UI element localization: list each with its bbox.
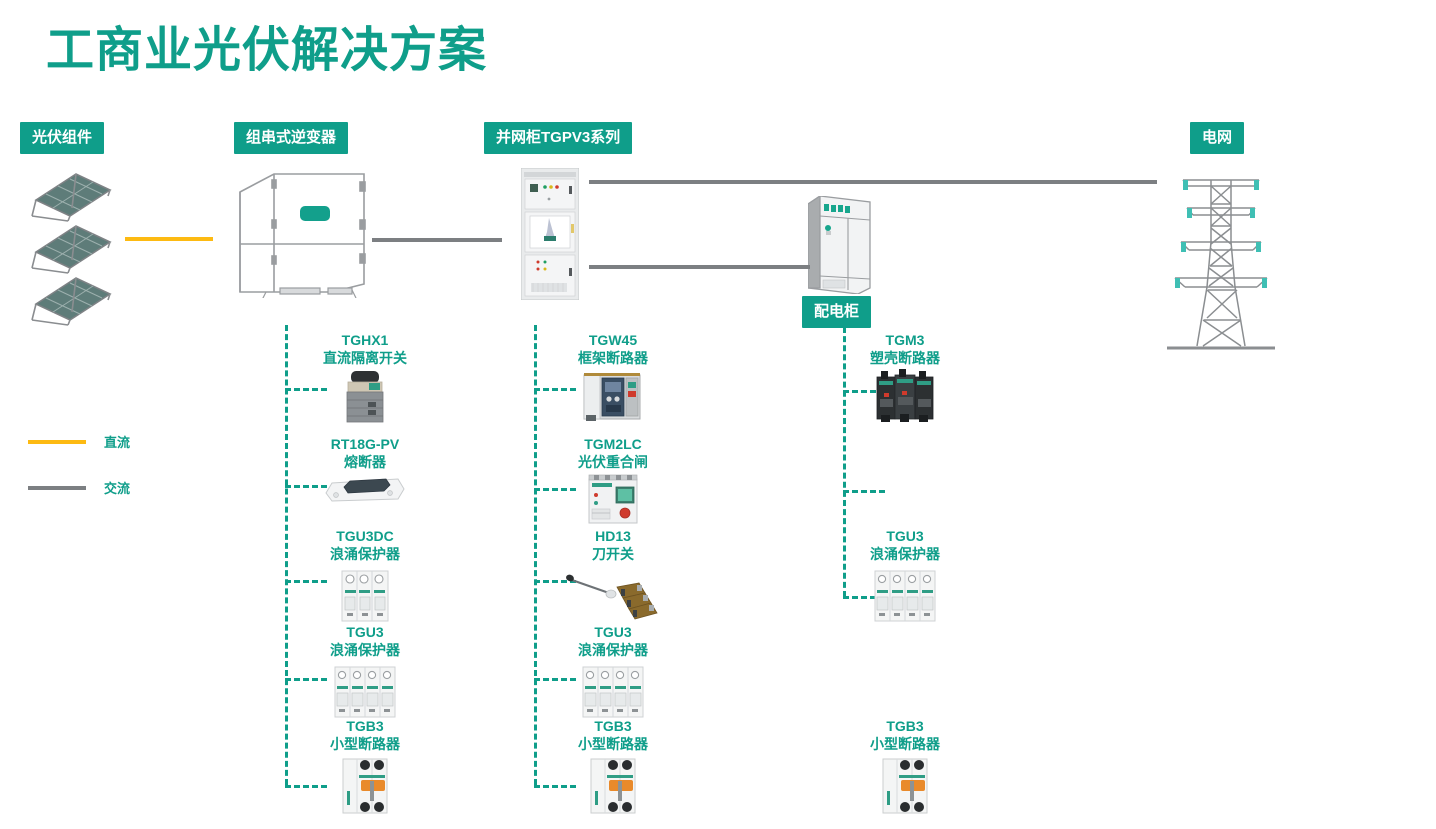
product-desc: 小型断路器	[528, 735, 698, 753]
spd-3p-icon	[336, 565, 394, 625]
product-desc: 浪涌保护器	[820, 545, 990, 563]
product-code: TGB3	[528, 718, 698, 735]
ac-line-grid-cabinet-to-distribution	[589, 265, 810, 269]
section-chip-string-inverter: 组串式逆变器	[234, 122, 348, 154]
product-code: TGM3	[820, 332, 990, 349]
product-code: HD13	[528, 528, 698, 545]
product-code: RT18G-PV	[280, 436, 450, 453]
section-chip-pv-modules: 光伏组件	[20, 122, 104, 154]
product-item-tgb3: TGB3 小型断路器	[280, 718, 450, 817]
product-code: TGU3	[820, 528, 990, 545]
product-desc: 熔断器	[280, 453, 450, 471]
product-item-hd13: HD13 刀开关	[528, 528, 698, 621]
distribution-cabinet-illustration	[808, 196, 874, 299]
product-desc: 小型断路器	[280, 735, 450, 753]
product-desc: 光伏重合闸	[528, 453, 698, 471]
section-chip-distribution-cabinet: 配电柜	[802, 296, 871, 328]
diagram-canvas: 工商业光伏解决方案 光伏组件 组串式逆变器 并网柜TGPV3系列 配电柜 电网	[0, 0, 1436, 829]
section-chip-power-grid: 电网	[1190, 122, 1244, 154]
product-desc: 直流隔离开关	[280, 349, 450, 367]
product-code: TGM2LC	[528, 436, 698, 453]
legend-label-ac: 交流	[104, 478, 130, 497]
spd-4p-icon	[871, 565, 939, 625]
product-item-tgm2lc: TGM2LC 光伏重合闸	[528, 436, 698, 525]
ac-line-grid-cabinet-to-grid	[589, 180, 1157, 184]
product-item-tgu3dc: TGU3DC 浪涌保护器	[280, 528, 450, 625]
legend-swatch-ac	[28, 486, 86, 490]
legend-label-dc: 直流	[104, 432, 130, 451]
product-item-tghx1: TGHX1 直流隔离开关	[280, 332, 450, 427]
product-code: TGW45	[528, 332, 698, 349]
recloser-icon	[585, 473, 641, 525]
section-chip-grid-cabinet: 并网柜TGPV3系列	[484, 122, 632, 154]
spd-4p-icon	[331, 661, 399, 721]
product-desc: 浪涌保护器	[280, 545, 450, 563]
product-desc: 塑壳断路器	[820, 349, 990, 367]
fuse-holder-icon	[324, 473, 406, 505]
product-code: TGB3	[820, 718, 990, 735]
knife-switch-icon	[565, 565, 661, 621]
product-item-tgu3-dist: TGU3 浪涌保护器	[820, 528, 990, 625]
product-code: TGB3	[280, 718, 450, 735]
product-desc: 框架断路器	[528, 349, 698, 367]
product-desc: 刀开关	[528, 545, 698, 563]
product-desc: 浪涌保护器	[528, 641, 698, 659]
product-item-tgm3: TGM3 塑壳断路器	[820, 332, 990, 423]
product-code: TGHX1	[280, 332, 450, 349]
branch-line	[843, 490, 885, 493]
ac-line-inverter-to-grid-cabinet	[372, 238, 502, 242]
string-inverter-illustration	[232, 168, 372, 303]
acb-icon	[580, 369, 646, 423]
page-title: 工商业光伏解决方案	[46, 22, 487, 80]
grid-cabinet-illustration	[521, 168, 579, 305]
product-item-tgu3: TGU3 浪涌保护器	[280, 624, 450, 721]
mccb-icon	[873, 369, 937, 423]
product-item-tgw45: TGW45 框架断路器	[528, 332, 698, 423]
product-desc: 小型断路器	[820, 735, 990, 753]
product-item-tgb3-grid: TGB3 小型断路器	[528, 718, 698, 817]
transmission-tower-illustration	[1163, 168, 1279, 363]
product-code: TGU3	[280, 624, 450, 641]
product-item-rt18g-pv: RT18G-PV 熔断器	[280, 436, 450, 505]
pv-array-illustration	[22, 168, 122, 333]
rotary-isolator-icon	[335, 369, 395, 427]
product-desc: 浪涌保护器	[280, 641, 450, 659]
mcb-2p-icon	[337, 755, 393, 817]
product-item-tgu3-grid: TGU3 浪涌保护器	[528, 624, 698, 721]
product-code: TGU3DC	[280, 528, 450, 545]
mcb-2p-icon	[877, 755, 933, 817]
product-item-tgb3-dist: TGB3 小型断路器	[820, 718, 990, 817]
legend-swatch-dc	[28, 440, 86, 444]
product-code: TGU3	[528, 624, 698, 641]
spd-4p-icon	[579, 661, 647, 721]
mcb-2p-icon	[585, 755, 641, 817]
dc-line-pv-to-inverter	[125, 237, 213, 241]
